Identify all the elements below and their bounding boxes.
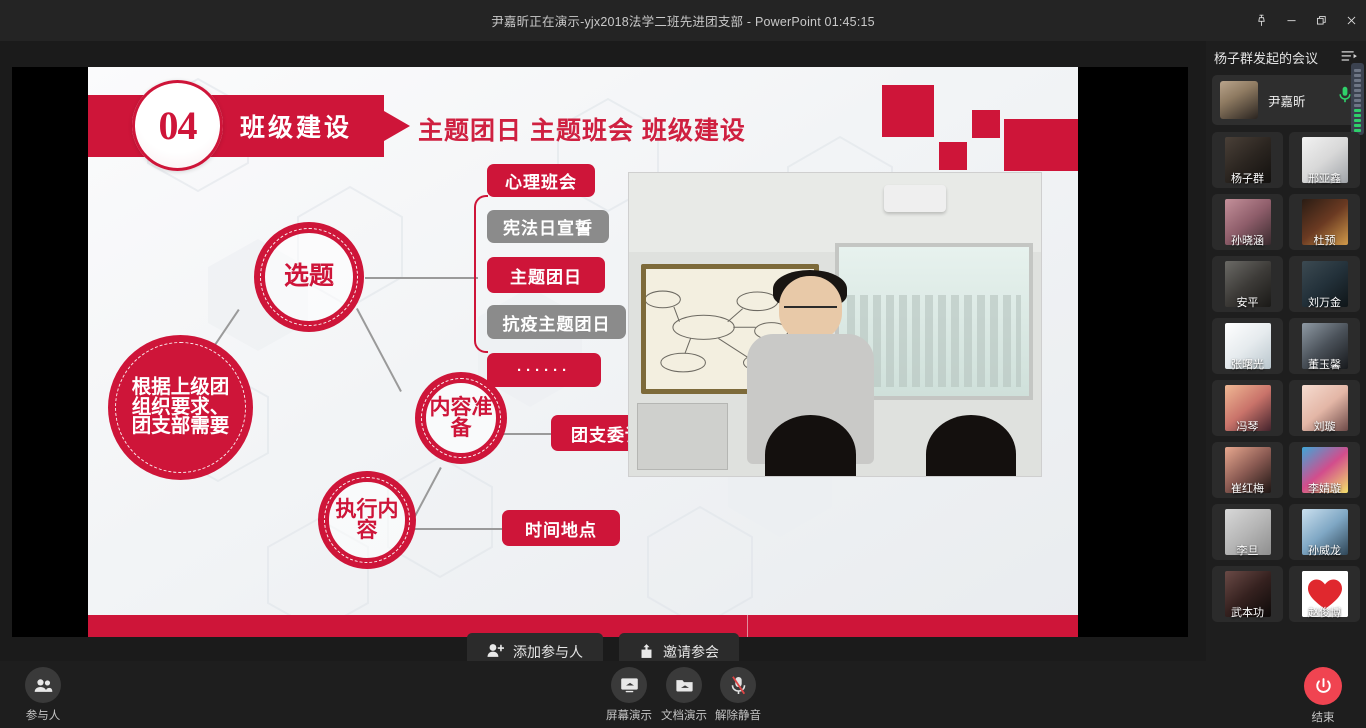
invite-label: 邀请参会 bbox=[663, 642, 719, 662]
ribbon-arrow bbox=[384, 111, 410, 141]
tag-item: 抗疫主题团日 bbox=[487, 305, 626, 339]
participant-name: 冯琴 bbox=[1212, 418, 1283, 434]
participant-grid: 杨子群邢亚鑫孙晓涵杜预安平刘万金张曙光董玉馨冯琴刘璇崔红梅李婧璇李旦孙威龙武本功… bbox=[1206, 125, 1366, 629]
screen-share-icon bbox=[611, 667, 647, 703]
unmute-button[interactable]: 解除静音 bbox=[702, 667, 774, 723]
participant-name: 安平 bbox=[1212, 294, 1283, 310]
participant-name: 董玉馨 bbox=[1289, 356, 1360, 372]
add-participant-label: 添加参与人 bbox=[513, 642, 583, 662]
bottom-toolbar: 参与人 屏幕演示 文档演示 解除静音 结束 bbox=[0, 661, 1366, 728]
participant-card[interactable]: 刘璇 bbox=[1289, 380, 1360, 436]
participant-card[interactable]: 刘万金 bbox=[1289, 256, 1360, 312]
window-controls bbox=[1246, 0, 1366, 41]
participant-name: 杨子群 bbox=[1212, 170, 1283, 186]
pin-icon[interactable] bbox=[1246, 0, 1276, 41]
close-icon[interactable] bbox=[1336, 0, 1366, 41]
participant-card[interactable]: 董玉馨 bbox=[1289, 318, 1360, 374]
document-share-label: 文档演示 bbox=[661, 707, 707, 723]
decor-square-3 bbox=[972, 110, 1000, 138]
participant-card[interactable]: 李婧璇 bbox=[1289, 442, 1360, 498]
meeting-window: 尹嘉昕正在演示-yjx2018法学二班先进团支部 - PowerPoint 01… bbox=[0, 0, 1366, 728]
participant-name: 孙晓涵 bbox=[1212, 232, 1283, 248]
participants-icon bbox=[25, 667, 61, 703]
tag-brace bbox=[474, 195, 488, 353]
participant-card[interactable]: 孙晓涵 bbox=[1212, 194, 1283, 250]
participant-name: 李旦 bbox=[1212, 542, 1283, 558]
participant-card[interactable]: 李旦 bbox=[1212, 504, 1283, 560]
restore-icon[interactable] bbox=[1306, 0, 1336, 41]
end-meeting-label: 结束 bbox=[1312, 709, 1335, 725]
connector-topic-tags bbox=[365, 277, 478, 279]
tag-item-ellipsis: ······ bbox=[487, 353, 601, 387]
powerpoint-slide: 04 班级建设 主题团日 主题班会 班级建设 选题 bbox=[88, 67, 1078, 637]
minimize-icon[interactable] bbox=[1276, 0, 1306, 41]
document-share-icon bbox=[666, 667, 702, 703]
shared-screen-viewport: 04 班级建设 主题团日 主题班会 班级建设 选题 bbox=[12, 67, 1188, 637]
meeting-title: 杨子群发起的会议 bbox=[1214, 48, 1318, 67]
participant-card[interactable]: 杜预 bbox=[1289, 194, 1360, 250]
window-title: 尹嘉昕正在演示-yjx2018法学二班先进团支部 - PowerPoint 01… bbox=[491, 11, 875, 30]
participant-name: 武本功 bbox=[1212, 604, 1283, 620]
participant-name: 张曙光 bbox=[1212, 356, 1283, 372]
node-execute: 执行内容 bbox=[318, 471, 416, 569]
participants-button[interactable]: 参与人 bbox=[7, 667, 79, 723]
decor-square-2 bbox=[939, 142, 967, 170]
projector bbox=[884, 185, 946, 212]
lectern bbox=[637, 403, 728, 470]
mic-on-icon[interactable] bbox=[1339, 86, 1351, 108]
node-source: 根据上级团组织要求、团支部需要 bbox=[108, 335, 253, 480]
participant-card[interactable]: 武本功 bbox=[1212, 566, 1283, 622]
participant-card[interactable]: 赵俊博 bbox=[1289, 566, 1360, 622]
participant-card[interactable]: 孙威龙 bbox=[1289, 504, 1360, 560]
tag-item: 主题团日 bbox=[487, 257, 605, 293]
decor-square-4 bbox=[1004, 119, 1078, 171]
callout-time-place: 时间地点 bbox=[502, 510, 620, 546]
active-speaker-card[interactable]: 尹嘉昕 bbox=[1212, 75, 1360, 125]
node-topic: 选题 bbox=[254, 222, 364, 332]
mic-muted-icon bbox=[720, 667, 756, 703]
decor-square-1 bbox=[882, 85, 934, 137]
section-number-badge: 04 bbox=[132, 80, 223, 171]
participant-name: 赵俊博 bbox=[1289, 604, 1360, 620]
participant-card[interactable]: 安平 bbox=[1212, 256, 1283, 312]
participant-panel: 杨子群发起的会议 尹嘉昕 杨子群邢亚鑫孙晓涵杜预安平刘万金张曙光董玉馨冯琴刘璇崔… bbox=[1206, 41, 1366, 661]
volume-level-meter bbox=[1351, 63, 1364, 135]
active-speaker-name: 尹嘉昕 bbox=[1268, 91, 1306, 110]
participant-name: 杜预 bbox=[1289, 232, 1360, 248]
slide-headline: 主题团日 主题班会 班级建设 bbox=[418, 111, 746, 147]
section-number: 04 bbox=[159, 102, 197, 149]
panel-header: 杨子群发起的会议 bbox=[1206, 41, 1366, 75]
classroom-scene bbox=[629, 173, 1041, 476]
participant-card[interactable]: 邢亚鑫 bbox=[1289, 132, 1360, 188]
participant-card[interactable]: 杨子群 bbox=[1212, 132, 1283, 188]
participant-name: 刘万金 bbox=[1289, 294, 1360, 310]
avatar bbox=[1220, 81, 1258, 119]
title-bar: 尹嘉昕正在演示-yjx2018法学二班先进团支部 - PowerPoint 01… bbox=[0, 0, 1366, 41]
participant-card[interactable]: 冯琴 bbox=[1212, 380, 1283, 436]
tag-item: 心理班会 bbox=[487, 164, 595, 197]
unmute-label: 解除静音 bbox=[715, 707, 761, 723]
presenter-video bbox=[628, 172, 1042, 477]
participants-label: 参与人 bbox=[26, 707, 61, 723]
screen-share-label: 屏幕演示 bbox=[606, 707, 652, 723]
end-meeting-button[interactable]: 结束 bbox=[1287, 667, 1359, 725]
participant-card[interactable]: 张曙光 bbox=[1212, 318, 1283, 374]
shared-screen-stage: 04 班级建设 主题团日 主题班会 班级建设 选题 bbox=[0, 41, 1206, 661]
add-user-icon bbox=[487, 643, 504, 661]
participant-name: 崔红梅 bbox=[1212, 480, 1283, 496]
power-icon bbox=[1304, 667, 1342, 705]
participant-name: 孙威龙 bbox=[1289, 542, 1360, 558]
connector-execute-callout bbox=[410, 528, 502, 530]
participant-card[interactable]: 崔红梅 bbox=[1212, 442, 1283, 498]
share-invite-icon bbox=[639, 643, 654, 662]
section-label: 班级建设 bbox=[240, 108, 352, 144]
participant-name: 邢亚鑫 bbox=[1289, 170, 1360, 186]
participant-name: 刘璇 bbox=[1289, 418, 1360, 434]
tag-item: 宪法日宣誓 bbox=[487, 210, 609, 243]
participant-name: 李婧璇 bbox=[1289, 480, 1360, 496]
